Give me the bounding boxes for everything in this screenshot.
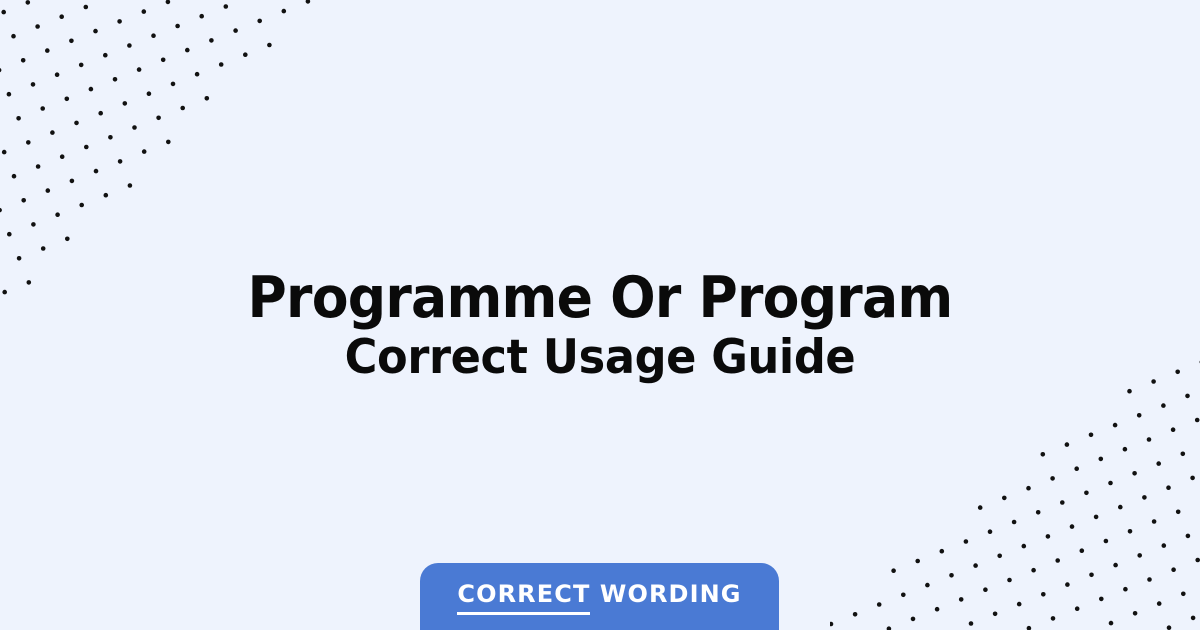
brand-button[interactable]: CORRECT WORDING — [420, 563, 779, 630]
brand-button-word-correct: CORRECT — [457, 582, 590, 615]
brand-button-space — [590, 580, 599, 608]
dot-pattern-bottom-right-icon — [830, 344, 1200, 630]
page-subtitle: Correct Usage Guide — [87, 332, 1113, 385]
brand-button-label: CORRECT WORDING — [457, 582, 741, 615]
page-title: Programme Or Program — [92, 268, 1107, 328]
headline-block: Programme Or Program Correct Usage Guide — [0, 268, 1200, 385]
brand-button-word-wording: WORDING — [600, 582, 742, 612]
poster-canvas: Programme Or Program Correct Usage Guide… — [0, 0, 1200, 630]
dot-pattern-bottom-right-svg — [830, 344, 1200, 630]
